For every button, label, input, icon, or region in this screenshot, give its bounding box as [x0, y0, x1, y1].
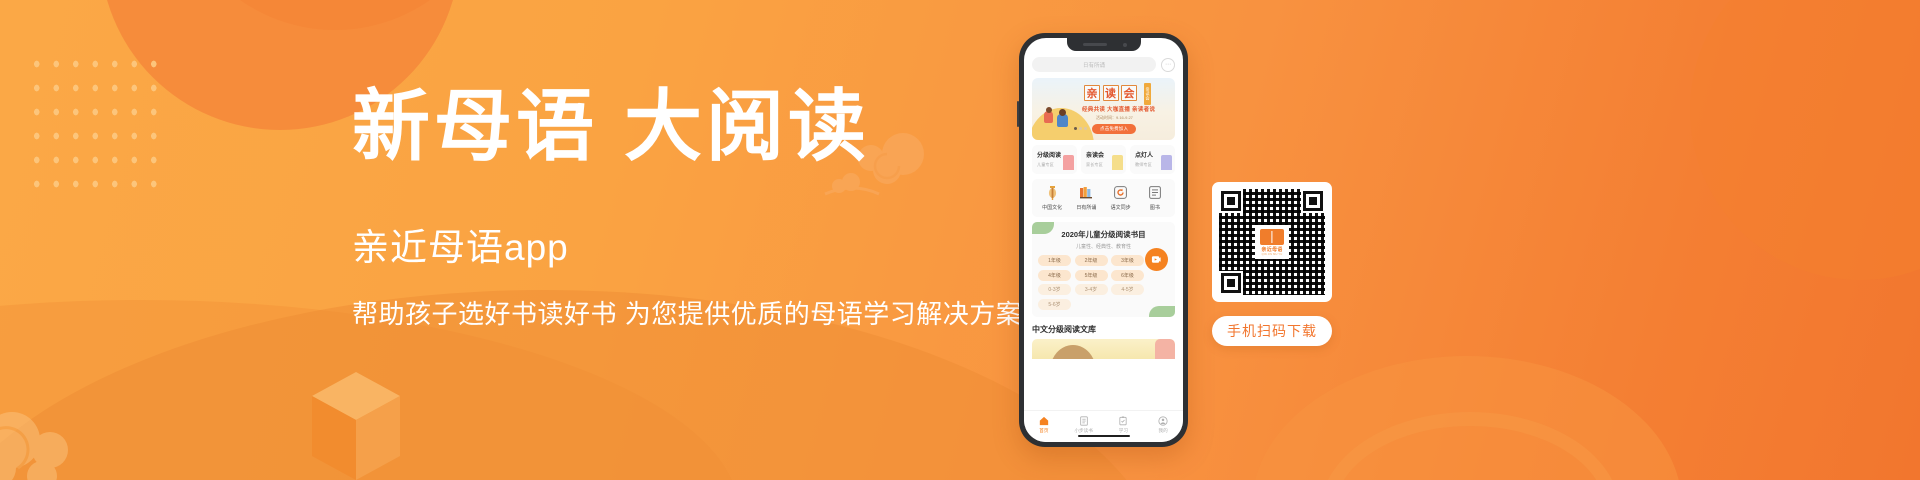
brand-logo-pinyin: QIN JIN MU YU: [1262, 253, 1283, 256]
book-icon: [1140, 185, 1170, 200]
lantern-icon: [1037, 185, 1067, 200]
tab-study[interactable]: 学习: [1105, 415, 1141, 434]
play-video-icon[interactable]: [1145, 248, 1168, 271]
quick-icon-label: 中国文化: [1037, 204, 1067, 211]
qr-finder-icon: [1219, 271, 1243, 295]
open-book-icon: [1260, 229, 1284, 245]
phone-mockup: 日有所诵 ⋯ 亲 读 会 亲读会 经典共读 大咖直播 亲读者说 活动时间：: [1019, 33, 1188, 447]
tagline: 帮助孩子选好书读好书 为您提供优质的母语学习解决方案: [352, 299, 1012, 330]
decorative-blob-right: [1690, 0, 1920, 280]
book-list-icon: [1066, 415, 1102, 426]
home-indicator: [1078, 435, 1130, 438]
clipboard-check-icon: [1105, 415, 1141, 426]
qr-finder-icon: [1219, 189, 1243, 213]
promo-title-char: 读: [1103, 85, 1119, 101]
decorative-ring-right-outline: [1320, 412, 1620, 480]
promo-title-char: 亲: [1084, 85, 1100, 101]
quick-icon-item[interactable]: 中国文化: [1037, 185, 1067, 211]
tab-profile[interactable]: 我的: [1145, 415, 1181, 434]
decorative-circle-top-left-2: [170, 0, 500, 30]
bookmark-icon: [1063, 155, 1074, 170]
promo-child-1-illustration: [1044, 111, 1053, 123]
app-promo-banner[interactable]: 亲 读 会 亲读会 经典共读 大咖直播 亲读者说 活动时间：9.16-9.27 …: [1032, 78, 1175, 140]
grade-section-title: 2020年儿童分级阅读书目: [1038, 229, 1169, 240]
grade-chip[interactable]: 5年级: [1075, 270, 1108, 281]
grade-chip[interactable]: 2年级: [1075, 255, 1108, 266]
category-card[interactable]: 亲读会 家长专区: [1081, 145, 1126, 174]
promo-banner: 新母语大阅读 亲近母语app 帮助孩子选好书读好书 为您提供优质的母语学习解决方…: [0, 0, 1920, 480]
grade-chip[interactable]: 6年级: [1111, 270, 1144, 281]
book-stack-icon: [1071, 185, 1101, 200]
bookmark-icon: [1112, 155, 1123, 170]
app-category-cards: 分级阅读 儿童专区 亲读会 家长专区 点灯人 教师专区: [1032, 145, 1175, 174]
qr-code[interactable]: 亲近母语 QIN JIN MU YU: [1212, 182, 1332, 302]
brand-logo-name: 亲近母语: [1261, 246, 1282, 253]
promo-title: 亲 读 会: [1084, 85, 1137, 101]
quick-icon-label: 图书: [1140, 204, 1170, 211]
search-input[interactable]: 日有所诵: [1032, 57, 1156, 72]
brand-logo: 亲近母语 QIN JIN MU YU: [1255, 225, 1289, 259]
promo-subtitle: 经典共读 大咖直播 亲读者说: [1082, 105, 1155, 113]
category-card[interactable]: 点灯人 教师专区: [1130, 145, 1175, 174]
headline-part-1: 新母语: [352, 83, 598, 170]
qr-download-block: 亲近母语 QIN JIN MU YU 手机扫码下载: [1212, 182, 1332, 346]
tab-reading[interactable]: 小步读书: [1066, 415, 1102, 434]
quick-icon-item[interactable]: 图书: [1140, 185, 1170, 211]
decorative-cloud-bottom-left-icon: [0, 406, 114, 480]
promo-join-button[interactable]: 点击免费加入: [1092, 124, 1136, 134]
age-chip[interactable]: 0-3岁: [1038, 284, 1071, 295]
decorative-dot-grid: [27, 52, 163, 202]
tab-label: 小步读书: [1066, 428, 1102, 434]
promo-carousel-dots[interactable]: [1074, 127, 1087, 130]
library-section-title: 中文分级阅读文库: [1032, 324, 1175, 335]
promo-child-2-illustration: [1057, 114, 1068, 127]
sync-icon: [1106, 185, 1136, 200]
age-chip[interactable]: 3-4岁: [1075, 284, 1108, 295]
decorative-ring-right: [1252, 356, 1682, 480]
user-circle-icon: [1145, 415, 1181, 426]
library-card[interactable]: [1032, 339, 1175, 359]
grade-chip[interactable]: 3年级: [1111, 255, 1144, 266]
headline-block: 新母语大阅读 亲近母语app 帮助孩子选好书读好书 为您提供优质的母语学习解决方…: [352, 88, 1012, 330]
quick-icon-item[interactable]: 日有所诵: [1071, 185, 1101, 211]
age-chip[interactable]: 4-5岁: [1111, 284, 1144, 295]
headline-part-2: 大阅读: [624, 83, 870, 170]
quick-icon-item[interactable]: 语文同步: [1106, 185, 1136, 211]
app-quick-icons: 中国文化 日有所诵 语文同步: [1032, 179, 1175, 217]
app-search-row: 日有所诵 ⋯: [1032, 57, 1175, 72]
ellipsis-icon[interactable]: ⋯: [1161, 58, 1175, 72]
qr-finder-icon: [1301, 189, 1325, 213]
phone-screen: 日有所诵 ⋯ 亲 读 会 亲读会 经典共读 大咖直播 亲读者说 活动时间：: [1024, 38, 1183, 442]
quick-icon-label: 日有所诵: [1071, 204, 1101, 211]
app-name-subtitle: 亲近母语app: [352, 228, 1012, 269]
grade-chip[interactable]: 1年级: [1038, 255, 1071, 266]
tab-label: 我的: [1145, 428, 1181, 434]
grade-chip[interactable]: 4年级: [1038, 270, 1071, 281]
quick-icon-label: 语文同步: [1106, 204, 1136, 211]
page-title: 新母语大阅读: [352, 88, 1012, 166]
promo-title-char: 会: [1121, 85, 1137, 101]
app-bottom-nav: 首页 小步读书 学习: [1024, 410, 1183, 442]
download-button[interactable]: 手机扫码下载: [1212, 316, 1332, 346]
promo-date: 活动时间：9.16-9.27: [1096, 115, 1133, 121]
library-card-arc: [1050, 345, 1096, 359]
tab-label: 学习: [1105, 428, 1141, 434]
phone-notch: [1067, 38, 1141, 51]
age-chip[interactable]: 5-6岁: [1038, 299, 1071, 310]
tab-label: 首页: [1026, 428, 1062, 434]
tab-home[interactable]: 首页: [1026, 415, 1062, 434]
decorative-cube-icon: [312, 372, 400, 480]
search-placeholder: 日有所诵: [1083, 61, 1105, 69]
home-icon: [1026, 415, 1062, 426]
app-grade-section: 2020年儿童分级阅读书目 儿童性、经典性、教育性 1年级 2年级 3年级 4年…: [1032, 222, 1175, 317]
bookmark-icon: [1161, 155, 1172, 170]
category-card[interactable]: 分级阅读 儿童专区: [1032, 145, 1077, 174]
library-card-accent: [1155, 339, 1175, 359]
qr-pattern: 亲近母语 QIN JIN MU YU: [1219, 189, 1325, 295]
promo-side-tag: 亲读会: [1144, 83, 1151, 105]
